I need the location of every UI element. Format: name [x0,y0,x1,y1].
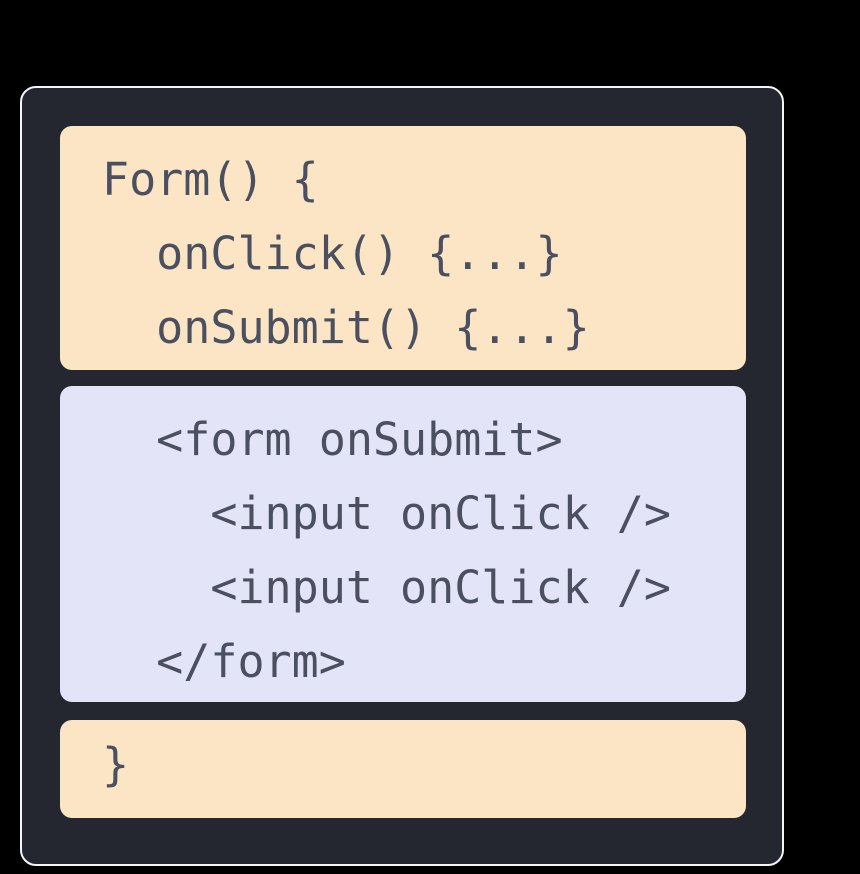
code-line: <input onClick /> [102,551,746,625]
code-block-component-head: Form() { onClick() {...} onSubmit() {...… [60,126,746,370]
code-line: <input onClick /> [102,477,746,551]
code-line-list: <form onSubmit> <input onClick /> <input… [60,386,746,699]
code-block-markup: <form onSubmit> <input onClick /> <input… [60,386,746,702]
code-line: </form> [102,625,746,699]
code-line-list: } [60,720,746,802]
code-line-list: Form() { onClick() {...} onSubmit() {...… [60,126,746,365]
code-line: onClick() {...} [102,217,746,291]
code-line: <form onSubmit> [102,403,746,477]
code-line: } [102,728,746,802]
code-line: onSubmit() {...} [102,291,746,365]
code-card: Form() { onClick() {...} onSubmit() {...… [20,86,784,866]
code-block-component-tail: } [60,720,746,818]
diagram-stage: Form() { onClick() {...} onSubmit() {...… [0,0,860,874]
code-line: Form() { [102,143,746,217]
